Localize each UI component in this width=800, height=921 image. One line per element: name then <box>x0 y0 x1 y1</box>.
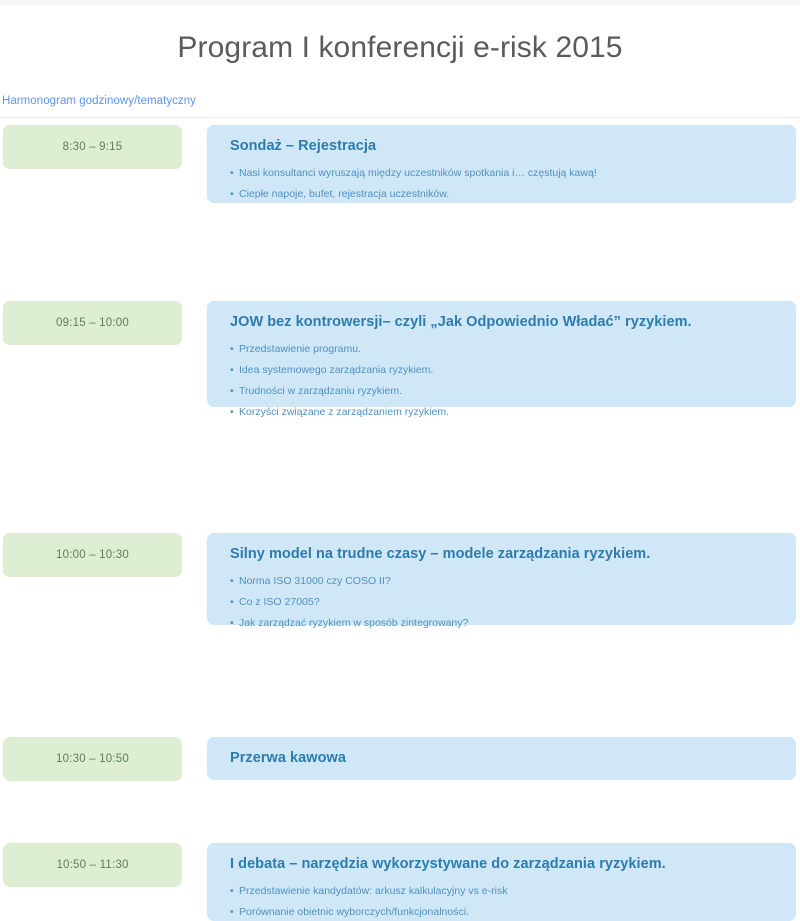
page-header: Program I konferencji e-risk 2015 Harmon… <box>0 5 800 113</box>
schedule-session-card: I debata – narzędzia wykorzystywane do z… <box>207 843 796 921</box>
bullet-dot-icon: • <box>230 884 234 898</box>
schedule-session-card: Sondaż – Rejestracja•Nasi konsultanci wy… <box>207 125 796 203</box>
schedule-row: 10:00 – 10:30Silny model na trudne czasy… <box>0 317 800 419</box>
session-bullet-item: •Norma ISO 31000 czy COSO II? <box>230 574 776 588</box>
schedule-row: 10:30 – 10:50Przerwa kawowa <box>0 419 800 472</box>
schedule-row: 8:30 – 9:15Sondaż – Rejestracja•Nasi kon… <box>0 113 800 201</box>
session-bullet-list: •Nasi konsultanci wyruszają między uczes… <box>230 166 776 201</box>
schedule-time-text: 10:30 – 10:50 <box>56 753 129 765</box>
schedule-row: 09:15 – 10:00JOW bez kontrowersji– czyli… <box>0 201 800 317</box>
page-title: Program I konferencji e-risk 2015 <box>0 31 800 65</box>
bullet-dot-icon: • <box>230 595 234 609</box>
session-bullet-item: •Przedstawienie kandydatów: arkusz kalku… <box>230 884 776 898</box>
session-bullet-item: •Ciepłe napoje, bufet, rejestracja uczes… <box>230 187 776 201</box>
session-bullet-list: •Norma ISO 31000 czy COSO II?•Co z ISO 2… <box>230 574 776 631</box>
bullet-dot-icon: • <box>230 574 234 588</box>
conference-program-page: Program I konferencji e-risk 2015 Harmon… <box>0 0 800 523</box>
schedule-row: 10:50 – 11:30I debata – narzędzia wykorz… <box>0 472 800 560</box>
session-title: Sondaż – Rejestracja <box>230 137 776 156</box>
schedule-time-cell: 10:30 – 10:50 <box>3 737 182 781</box>
session-title: I debata – narzędzia wykorzystywane do z… <box>230 855 776 874</box>
session-bullet-item: •Porównanie obietnic wyborczych/funkcjon… <box>230 905 776 919</box>
schedule-time-cell: 10:50 – 11:30 <box>3 843 182 887</box>
session-bullet-item: •Jak zarządzać ryzykiem w sposób zintegr… <box>230 616 776 630</box>
session-title: Przerwa kawowa <box>230 749 776 768</box>
session-bullet-item: •Co z ISO 27005? <box>230 595 776 609</box>
bullet-dot-icon: • <box>230 616 234 630</box>
schedule-time-text: 8:30 – 9:15 <box>63 141 123 153</box>
schedule-time-text: 10:50 – 11:30 <box>56 859 128 871</box>
session-bullet-item: •Nasi konsultanci wyruszają między uczes… <box>230 166 776 180</box>
schedule-subtitle-link[interactable]: Harmonogram godzinowy/tematyczny <box>2 95 196 107</box>
schedule-session-card: Przerwa kawowa <box>207 737 796 780</box>
session-bullet-list: •Przedstawienie kandydatów: arkusz kalku… <box>230 884 776 919</box>
schedule-list: 8:30 – 9:15Sondaż – Rejestracja•Nasi kon… <box>0 113 800 560</box>
bullet-dot-icon: • <box>230 166 234 180</box>
bullet-dot-icon: • <box>230 905 234 919</box>
schedule-time-cell: 8:30 – 9:15 <box>3 125 182 169</box>
bullet-dot-icon: • <box>230 187 234 201</box>
